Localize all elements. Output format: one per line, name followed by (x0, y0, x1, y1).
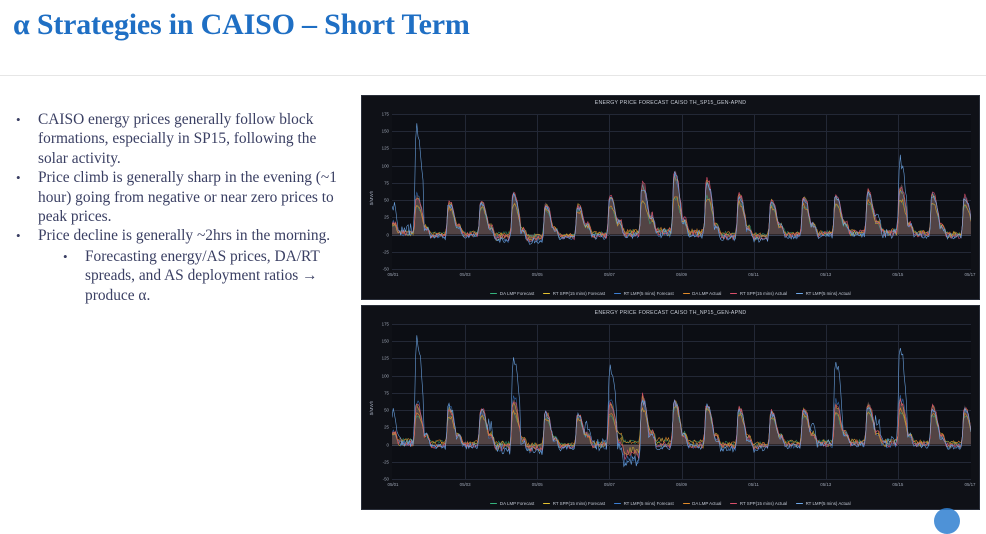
legend-label: RT LMP(5 mins) Forecast (624, 501, 674, 506)
legend-item[interactable]: RT LMP(5 mins) Forecast (614, 291, 674, 296)
legend-label: DA LMP Forecast (500, 291, 534, 296)
bullet-marker-icon: • (16, 168, 38, 187)
list-item: • Price climb is generally sharp in the … (10, 168, 350, 226)
plot-area: 1751501251007550250-25-5005/0105/0305/05… (392, 114, 971, 269)
chart-series-canvas (392, 324, 971, 479)
legend-swatch-icon (543, 293, 550, 295)
legend-swatch-icon (543, 503, 550, 505)
legend-item[interactable]: DA LMP Actual (683, 501, 722, 506)
x-axis-tick: 05/09 (676, 272, 687, 277)
y-axis-tick: 50 (384, 408, 389, 413)
legend-label: DA LMP Actual (692, 501, 721, 506)
legend-item[interactable]: DA LMP Actual (683, 291, 722, 296)
list-item-text: Price decline is generally ~2hrs in the … (38, 226, 350, 245)
chart-legend: DA LMP ForecastRT SPP(15 mins) ForecastR… (362, 291, 979, 296)
list-item: • CAISO energy prices generally follow b… (10, 110, 350, 168)
legend-label: DA LMP Actual (692, 291, 721, 296)
chart-panel-np15: ENERGY PRICE FORECAST CAISO TH_NP15_GEN-… (361, 305, 980, 510)
y-axis-tick: 100 (382, 163, 389, 168)
legend-swatch-icon (490, 503, 497, 505)
list-item: • Price decline is generally ~2hrs in th… (10, 226, 350, 245)
x-axis-tick: 05/07 (604, 272, 615, 277)
legend-item[interactable]: RT SPP(15 mins) Forecast (543, 291, 605, 296)
y-axis-tick: 125 (382, 356, 389, 361)
legend-item[interactable]: RT LMP(5 mins) Actual (796, 291, 850, 296)
y-axis-tick: -50 (383, 267, 389, 272)
page-title: α Strategies in CAISO – Short Term (13, 8, 470, 42)
legend-swatch-icon (730, 503, 737, 505)
y-axis-tick: 125 (382, 146, 389, 151)
y-axis-tick: -50 (383, 477, 389, 482)
x-axis-tick: 05/17 (965, 272, 976, 277)
list-item-text: CAISO energy prices generally follow blo… (38, 110, 350, 168)
x-axis-tick: 05/05 (532, 482, 543, 487)
list-item-text: Price climb is generally sharp in the ev… (38, 168, 350, 226)
legend-swatch-icon (730, 293, 737, 295)
y-axis-label: $/MWh (369, 400, 374, 415)
bullet-marker-icon: • (63, 247, 85, 266)
legend-label: RT SPP(15 mins) Forecast (553, 291, 605, 296)
y-axis-tick: 25 (384, 215, 389, 220)
y-axis-tick: 0 (387, 232, 389, 237)
legend-item[interactable]: DA LMP Forecast (490, 291, 534, 296)
plot-area: 1751501251007550250-25-5005/0105/0305/05… (392, 324, 971, 479)
y-axis-tick: -25 (383, 459, 389, 464)
x-axis-tick: 05/09 (676, 482, 687, 487)
y-axis-tick: 0 (387, 442, 389, 447)
y-axis-tick: -25 (383, 249, 389, 254)
legend-label: RT LMP(5 mins) Actual (806, 501, 851, 506)
legend-label: RT SPP(15 mins) Actual (740, 501, 787, 506)
y-axis-tick: 75 (384, 390, 389, 395)
y-axis-label: $/MWh (369, 190, 374, 205)
x-axis-tick: 05/15 (892, 482, 903, 487)
legend-label: RT SPP(15 mins) Actual (740, 291, 787, 296)
chart-series-line (392, 335, 971, 466)
legend-swatch-icon (796, 293, 803, 295)
legend-swatch-icon (796, 503, 803, 505)
x-axis-tick: 05/13 (820, 272, 831, 277)
x-axis-tick: 05/05 (532, 272, 543, 277)
y-axis-tick: 75 (384, 180, 389, 185)
chart-series-canvas (392, 114, 971, 269)
legend-item[interactable]: RT LMP(5 mins) Actual (796, 501, 850, 506)
bullet-marker-icon: • (16, 110, 38, 129)
y-axis-tick: 175 (382, 112, 389, 117)
legend-item[interactable]: RT SPP(15 mins) Actual (730, 501, 787, 506)
x-axis-tick: 05/03 (460, 272, 471, 277)
x-axis-tick: 05/11 (748, 272, 759, 277)
legend-label: RT SPP(15 mins) Forecast (553, 501, 605, 506)
legend-label: DA LMP Forecast (500, 501, 534, 506)
y-axis-tick: 100 (382, 373, 389, 378)
legend-item[interactable]: RT SPP(15 mins) Forecast (543, 501, 605, 506)
chart-title: ENERGY PRICE FORECAST CAISO TH_SP15_GEN-… (362, 100, 979, 106)
x-axis-tick: 05/03 (460, 482, 471, 487)
x-axis-tick: 05/17 (965, 482, 976, 487)
legend-item[interactable]: DA LMP Forecast (490, 501, 534, 506)
x-axis-tick: 05/13 (820, 482, 831, 487)
legend-swatch-icon (614, 503, 621, 505)
x-axis-tick: 05/15 (892, 272, 903, 277)
legend-item[interactable]: RT SPP(15 mins) Actual (730, 291, 787, 296)
y-axis-tick: 50 (384, 198, 389, 203)
list-item-sub: • Forecasting energy/AS prices, DA/RT sp… (10, 247, 350, 305)
list-item-text: Forecasting energy/AS prices, DA/RT spre… (85, 247, 350, 305)
chart-series-line (392, 395, 971, 455)
bullet-list: • CAISO energy prices generally follow b… (10, 110, 350, 305)
slide-header: α Strategies in CAISO – Short Term (0, 0, 986, 76)
gridline-horizontal (392, 269, 971, 270)
x-axis-tick: 05/01 (388, 272, 399, 277)
x-axis-tick: 05/11 (748, 482, 759, 487)
legend-label: RT LMP(5 mins) Forecast (624, 291, 674, 296)
chart-panel-sp15: ENERGY PRICE FORECAST CAISO TH_SP15_GEN-… (361, 95, 980, 300)
y-axis-tick: 175 (382, 322, 389, 327)
x-axis-tick: 05/07 (604, 482, 615, 487)
bullet-marker-icon: • (16, 226, 38, 245)
legend-label: RT LMP(5 mins) Actual (806, 291, 851, 296)
x-axis-tick: 05/01 (388, 482, 399, 487)
legend-item[interactable]: RT LMP(5 mins) Forecast (614, 501, 674, 506)
chart-legend: DA LMP ForecastRT SPP(15 mins) ForecastR… (362, 501, 979, 506)
legend-swatch-icon (614, 293, 621, 295)
chart-title: ENERGY PRICE FORECAST CAISO TH_NP15_GEN-… (362, 310, 979, 316)
legend-swatch-icon (683, 503, 690, 505)
legend-swatch-icon (683, 293, 690, 295)
legend-swatch-icon (490, 293, 497, 295)
y-axis-tick: 25 (384, 425, 389, 430)
y-axis-tick: 150 (382, 129, 389, 134)
y-axis-tick: 150 (382, 339, 389, 344)
gridline-horizontal (392, 479, 971, 480)
corner-badge-icon (934, 508, 960, 534)
chart-series-line (392, 393, 971, 460)
